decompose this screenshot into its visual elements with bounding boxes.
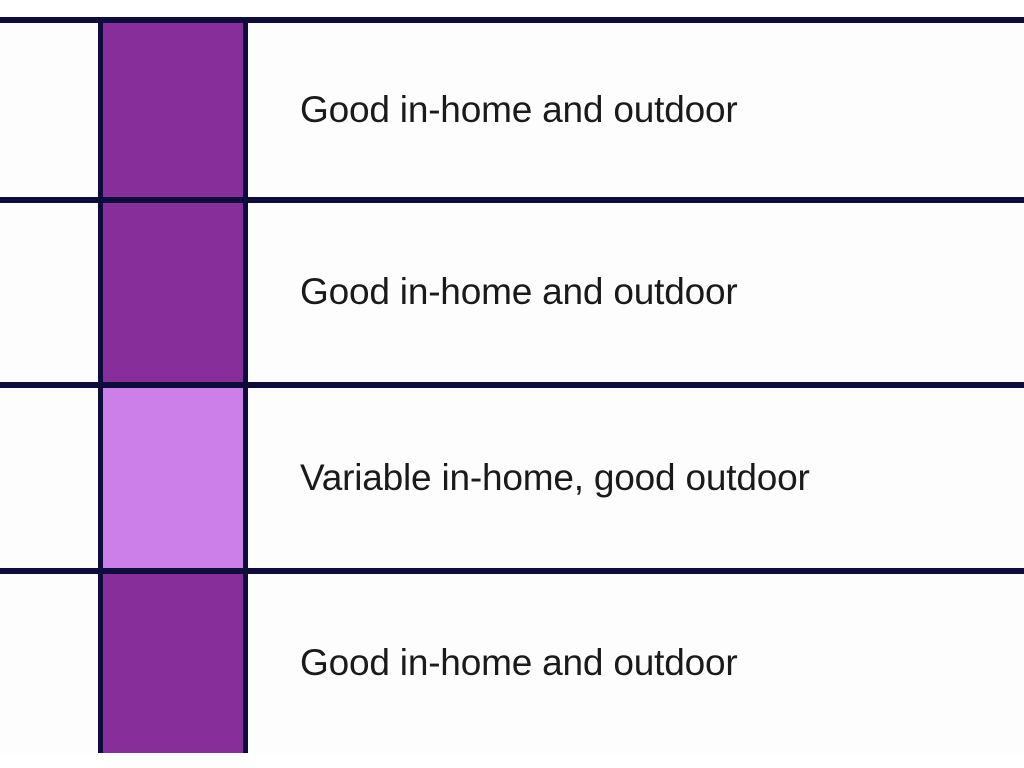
coverage-description-text: Good in-home and outdoor <box>300 643 737 684</box>
table-row: Good in-home and outdoor <box>0 574 1024 753</box>
table-row: Variable in-home, good outdoor <box>0 388 1024 574</box>
coverage-description-text: Good in-home and outdoor <box>300 90 737 131</box>
table-cell-description: Good in-home and outdoor <box>248 203 1024 382</box>
table-cell-swatch <box>98 574 248 753</box>
rating-swatch-dark-purple <box>103 574 243 753</box>
coverage-description-text: Variable in-home, good outdoor <box>300 458 810 499</box>
table-row: Good in-home and outdoor <box>0 23 1024 203</box>
table-cell-description: Good in-home and outdoor <box>248 574 1024 753</box>
table-cell-swatch <box>98 203 248 382</box>
rating-swatch-dark-purple <box>103 203 243 382</box>
table-cell-swatch <box>98 23 248 197</box>
table-cell-description: Variable in-home, good outdoor <box>248 388 1024 568</box>
rating-swatch-dark-purple <box>103 23 243 197</box>
rating-swatch-light-purple <box>103 388 243 568</box>
table-cell-label <box>0 203 98 382</box>
table-cell-label <box>0 388 98 568</box>
table-cell-label <box>0 23 98 197</box>
table-cell-description: Good in-home and outdoor <box>248 23 1024 197</box>
table-cell-label <box>0 574 98 753</box>
table-cell-swatch <box>98 388 248 568</box>
coverage-description-text: Good in-home and outdoor <box>300 272 737 313</box>
coverage-table: Good in-home and outdoor Good in-home an… <box>0 17 1024 753</box>
table-row: Good in-home and outdoor <box>0 203 1024 388</box>
